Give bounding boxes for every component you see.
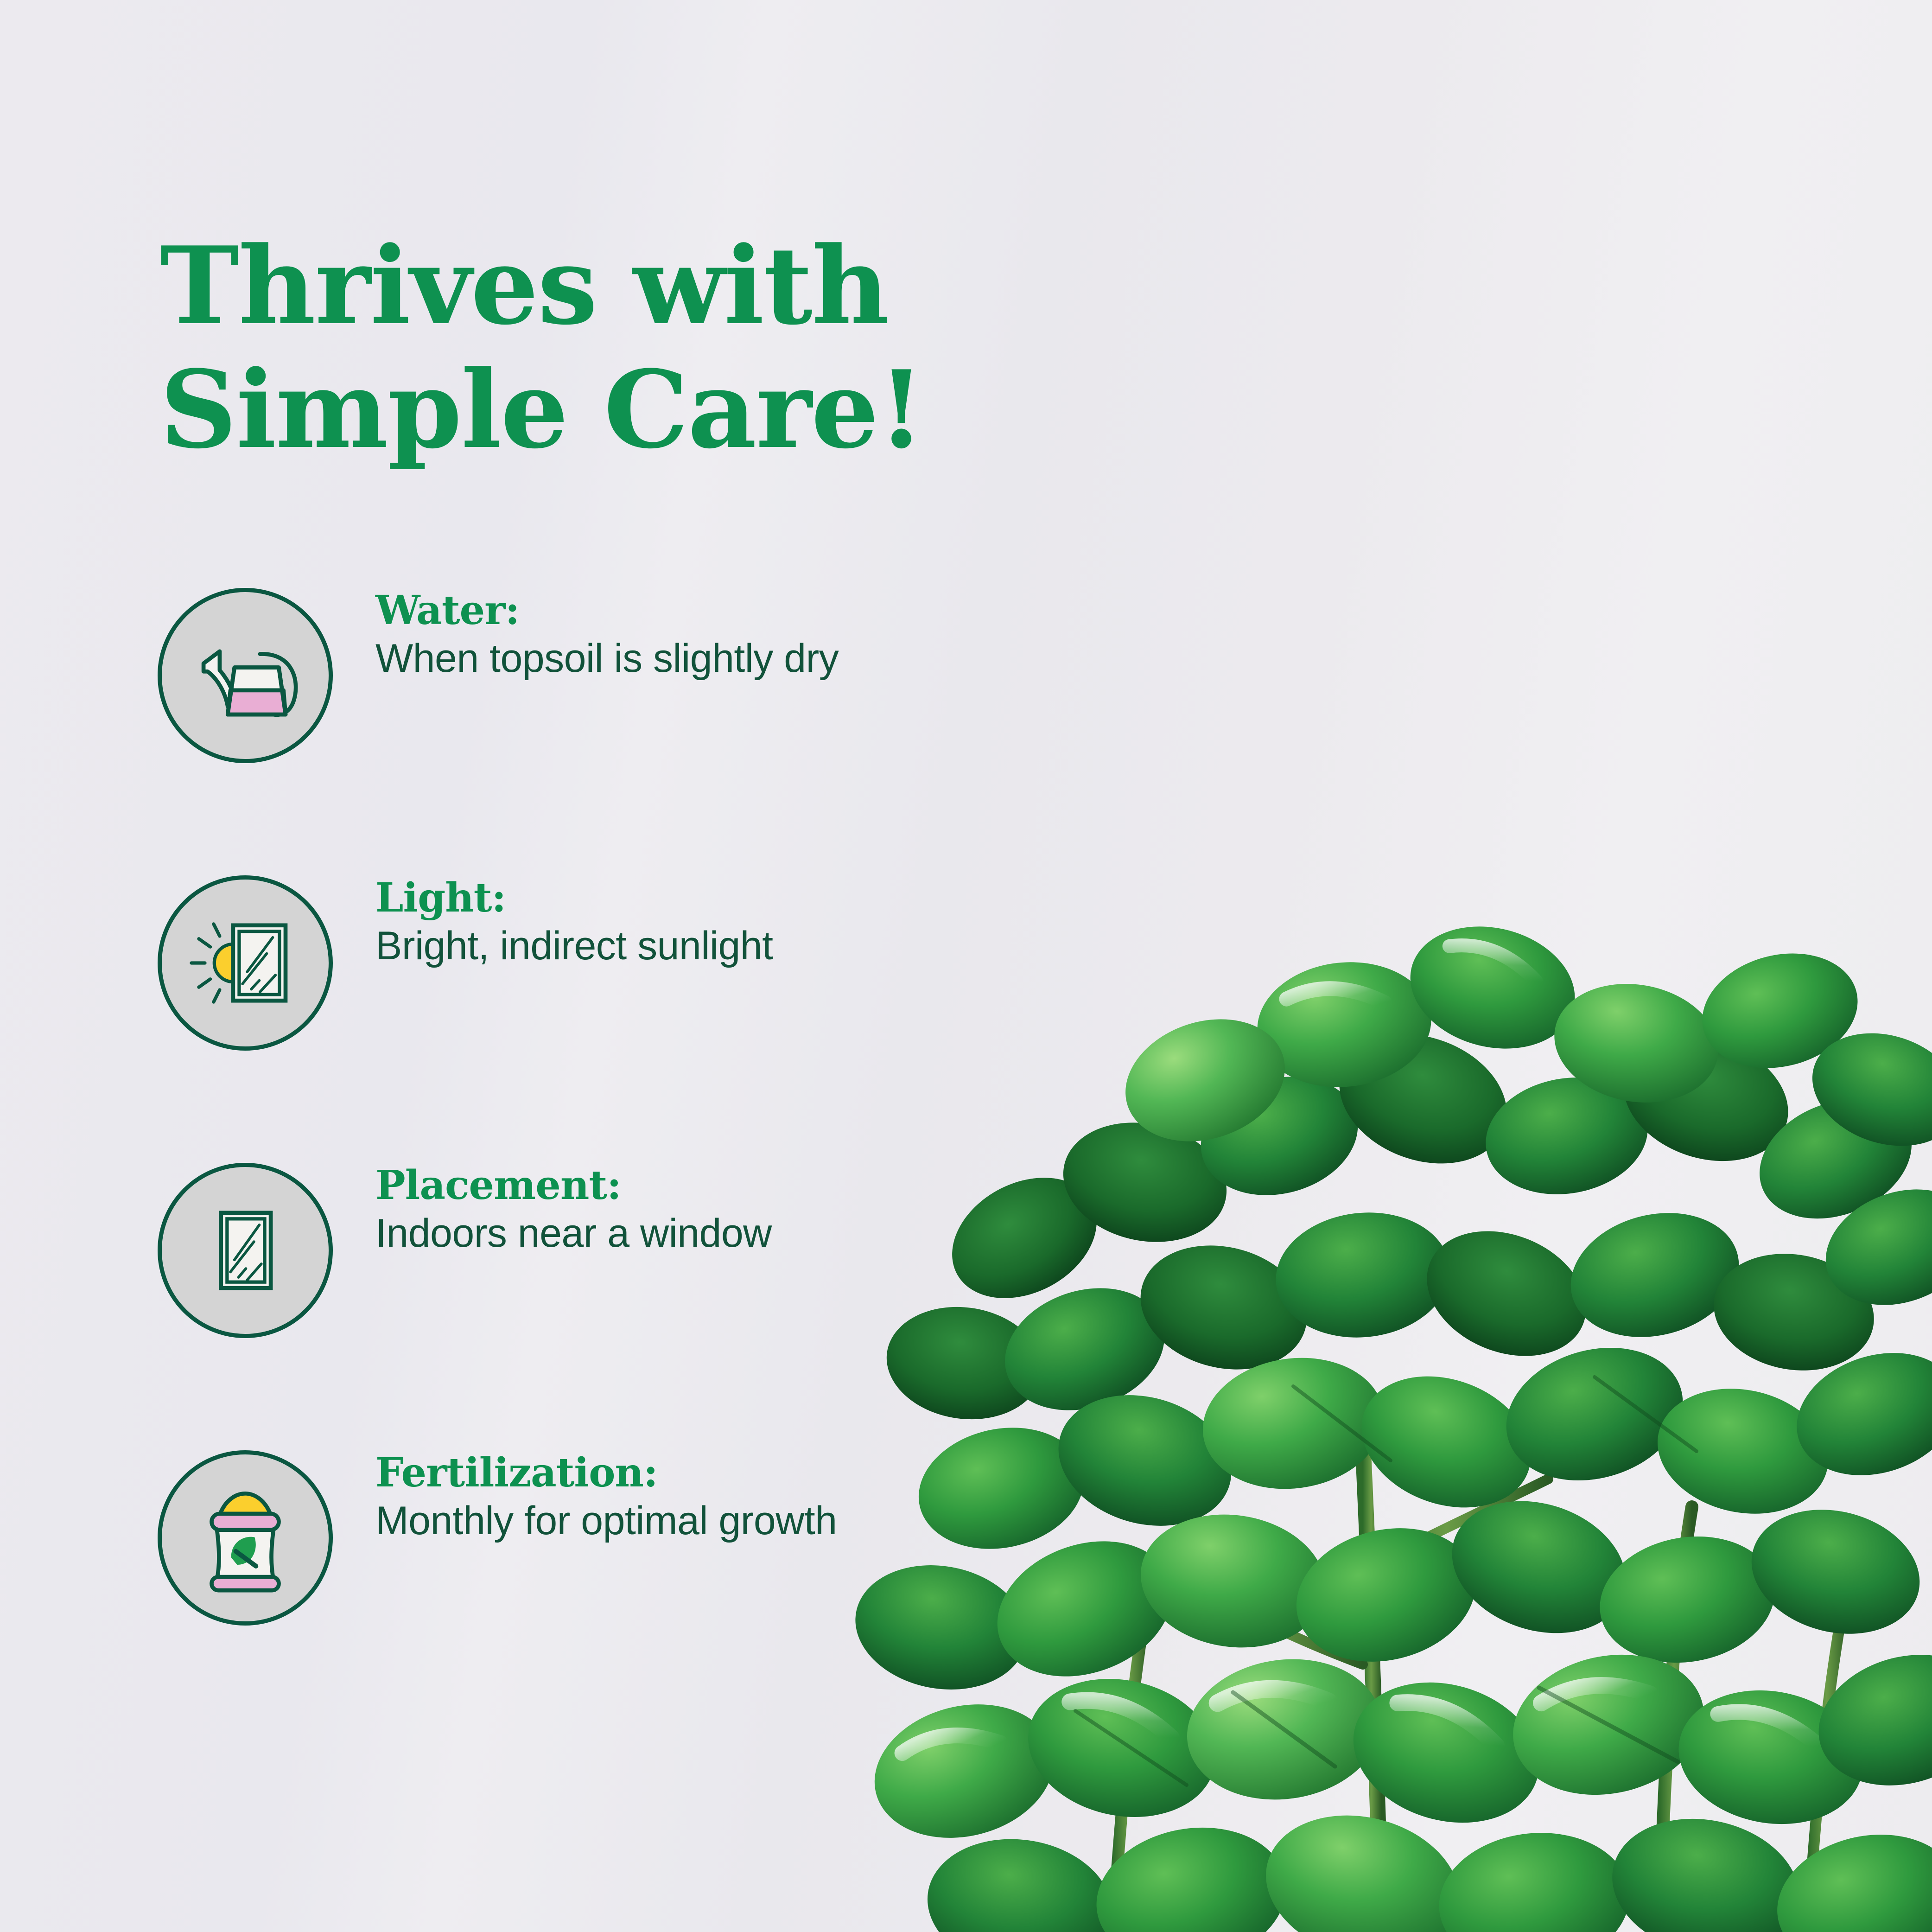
care-text-fertilization: Fertilization: Monthly for optimal growt…: [375, 1453, 1071, 1544]
window-icon: [158, 1163, 333, 1338]
care-label-light: Light:: [375, 878, 1071, 918]
care-text-water: Water: When topsoil is slightly dry: [375, 591, 1071, 682]
care-label-placement: Placement:: [375, 1166, 1071, 1205]
care-text-placement: Placement: Indoors near a window: [375, 1166, 1071, 1257]
care-item-light: Light: Bright, indirect sunlight: [158, 875, 1085, 1163]
care-item-water: Water: When topsoil is slightly dry: [158, 588, 1085, 875]
fertilizer-bag-icon: [158, 1450, 333, 1626]
care-item-placement: Placement: Indoors near a window: [158, 1163, 1085, 1450]
care-label-water: Water:: [375, 591, 1071, 631]
care-description-water: When topsoil is slightly dry: [375, 635, 885, 682]
care-description-placement: Indoors near a window: [375, 1210, 885, 1257]
care-instruction-list: Water: When topsoil is slightly dry: [158, 588, 1085, 1738]
care-label-fertilization: Fertilization:: [375, 1453, 1071, 1493]
page-title: Thrives with Simple Care!: [160, 224, 1087, 472]
care-text-light: Light: Bright, indirect sunlight: [375, 878, 1071, 969]
sun-window-icon: [158, 875, 333, 1051]
care-description-light: Bright, indirect sunlight: [375, 923, 885, 969]
care-description-fertilization: Monthly for optimal growth: [375, 1498, 885, 1544]
watering-can-icon: [158, 588, 333, 763]
poster-canvas: Thrives with Simple Care! Water: When to: [0, 0, 1932, 1932]
care-item-fertilization: Fertilization: Monthly for optimal growt…: [158, 1450, 1085, 1738]
